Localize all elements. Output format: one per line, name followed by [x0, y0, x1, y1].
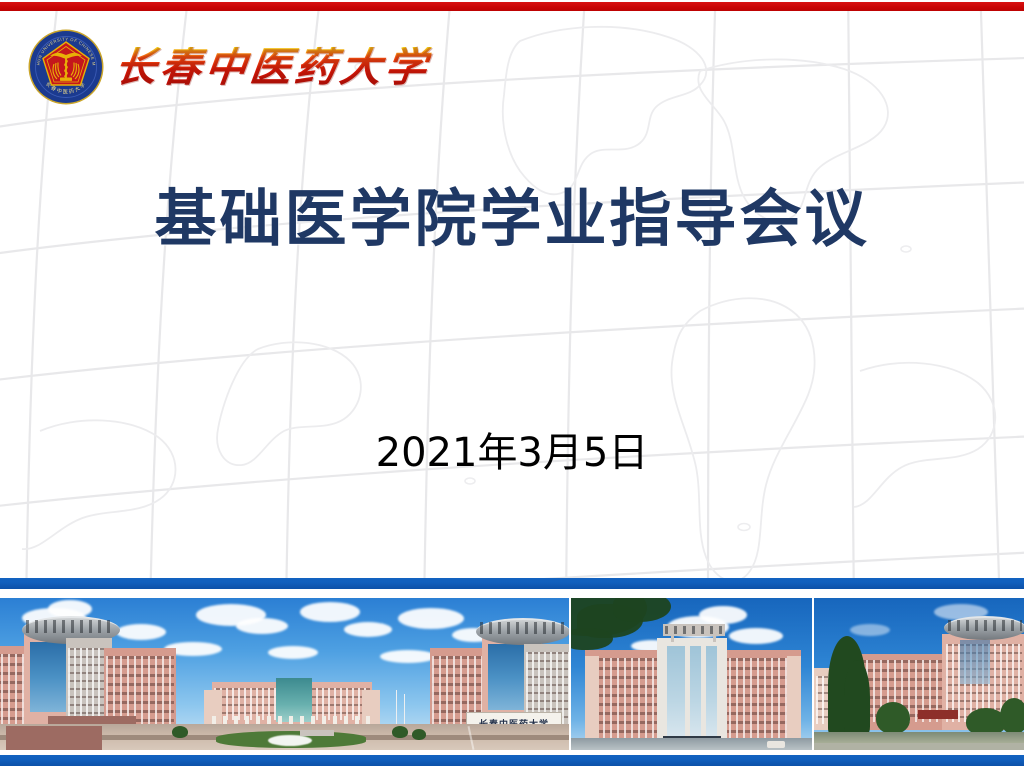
photo-campus-panorama: 长春中医药大学 [0, 598, 569, 750]
slide-title: 基础医学院学业指导会议 [0, 183, 1024, 255]
slide-header: CHANGCHUN UNIVERSITY OF CHINESE MEDICINE… [27, 27, 430, 107]
photo-campus-building-right [814, 598, 1024, 750]
divider-bar-upper [0, 578, 1024, 589]
top-accent-bar [0, 2, 1024, 11]
campus-photo-strip: 长春中医药大学 [0, 598, 1024, 750]
university-name-calligraphy: 长春中医药大学 [112, 47, 432, 88]
photo-teaching-building [571, 598, 813, 750]
university-name: 长春中医药大学 [115, 28, 430, 106]
university-seal-icon: CHANGCHUN UNIVERSITY OF CHINESE MEDICINE… [27, 28, 105, 106]
slide-date: 2021年3月5日 [0, 428, 1024, 478]
divider-bar-lower [0, 755, 1024, 766]
presentation-slide: CHANGCHUN UNIVERSITY OF CHINESE MEDICINE… [0, 0, 1024, 768]
